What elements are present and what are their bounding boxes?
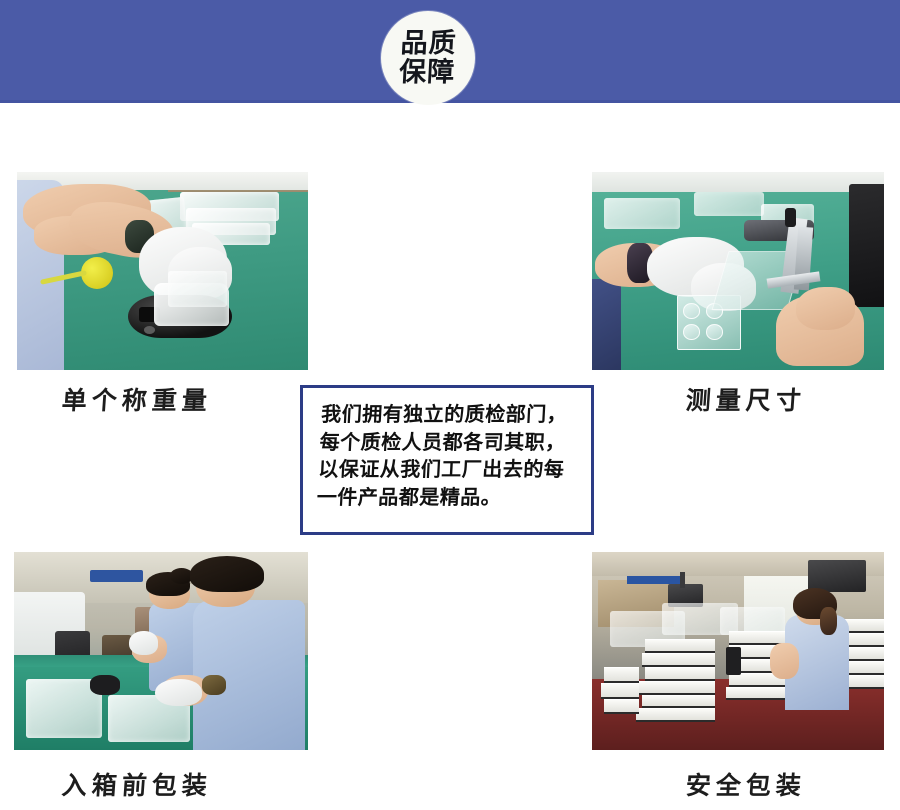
badge-label: 品质 保障 — [396, 29, 461, 86]
quality-assurance-page: 品质 保障 — [0, 0, 900, 810]
caption-pre-box-packing: 入箱前包装 — [61, 766, 214, 802]
badge-line-1: 品质 — [397, 29, 460, 58]
quality-statement-box: 我们拥有独立的质检部门，每个质检人员都各司其职，以保证从我们工厂出去的每一件产品… — [300, 385, 594, 535]
badge-line-2: 保障 — [396, 58, 459, 87]
photo-safe-packing — [592, 552, 884, 750]
quality-assurance-badge: 品质 保障 — [381, 11, 475, 105]
photo-weighing — [17, 172, 308, 370]
banner-bottom-seam — [0, 100, 900, 103]
photo-pre-box-packing — [14, 552, 308, 750]
caption-safe-packing: 安全包装 — [685, 766, 808, 802]
caption-weighing: 单个称重量 — [61, 381, 214, 417]
photo-measuring — [592, 172, 884, 370]
caption-measuring: 测量尺寸 — [685, 381, 808, 417]
quality-statement-text: 我们拥有独立的质检部门，每个质检人员都各司其职，以保证从我们工厂出去的每一件产品… — [316, 402, 582, 512]
